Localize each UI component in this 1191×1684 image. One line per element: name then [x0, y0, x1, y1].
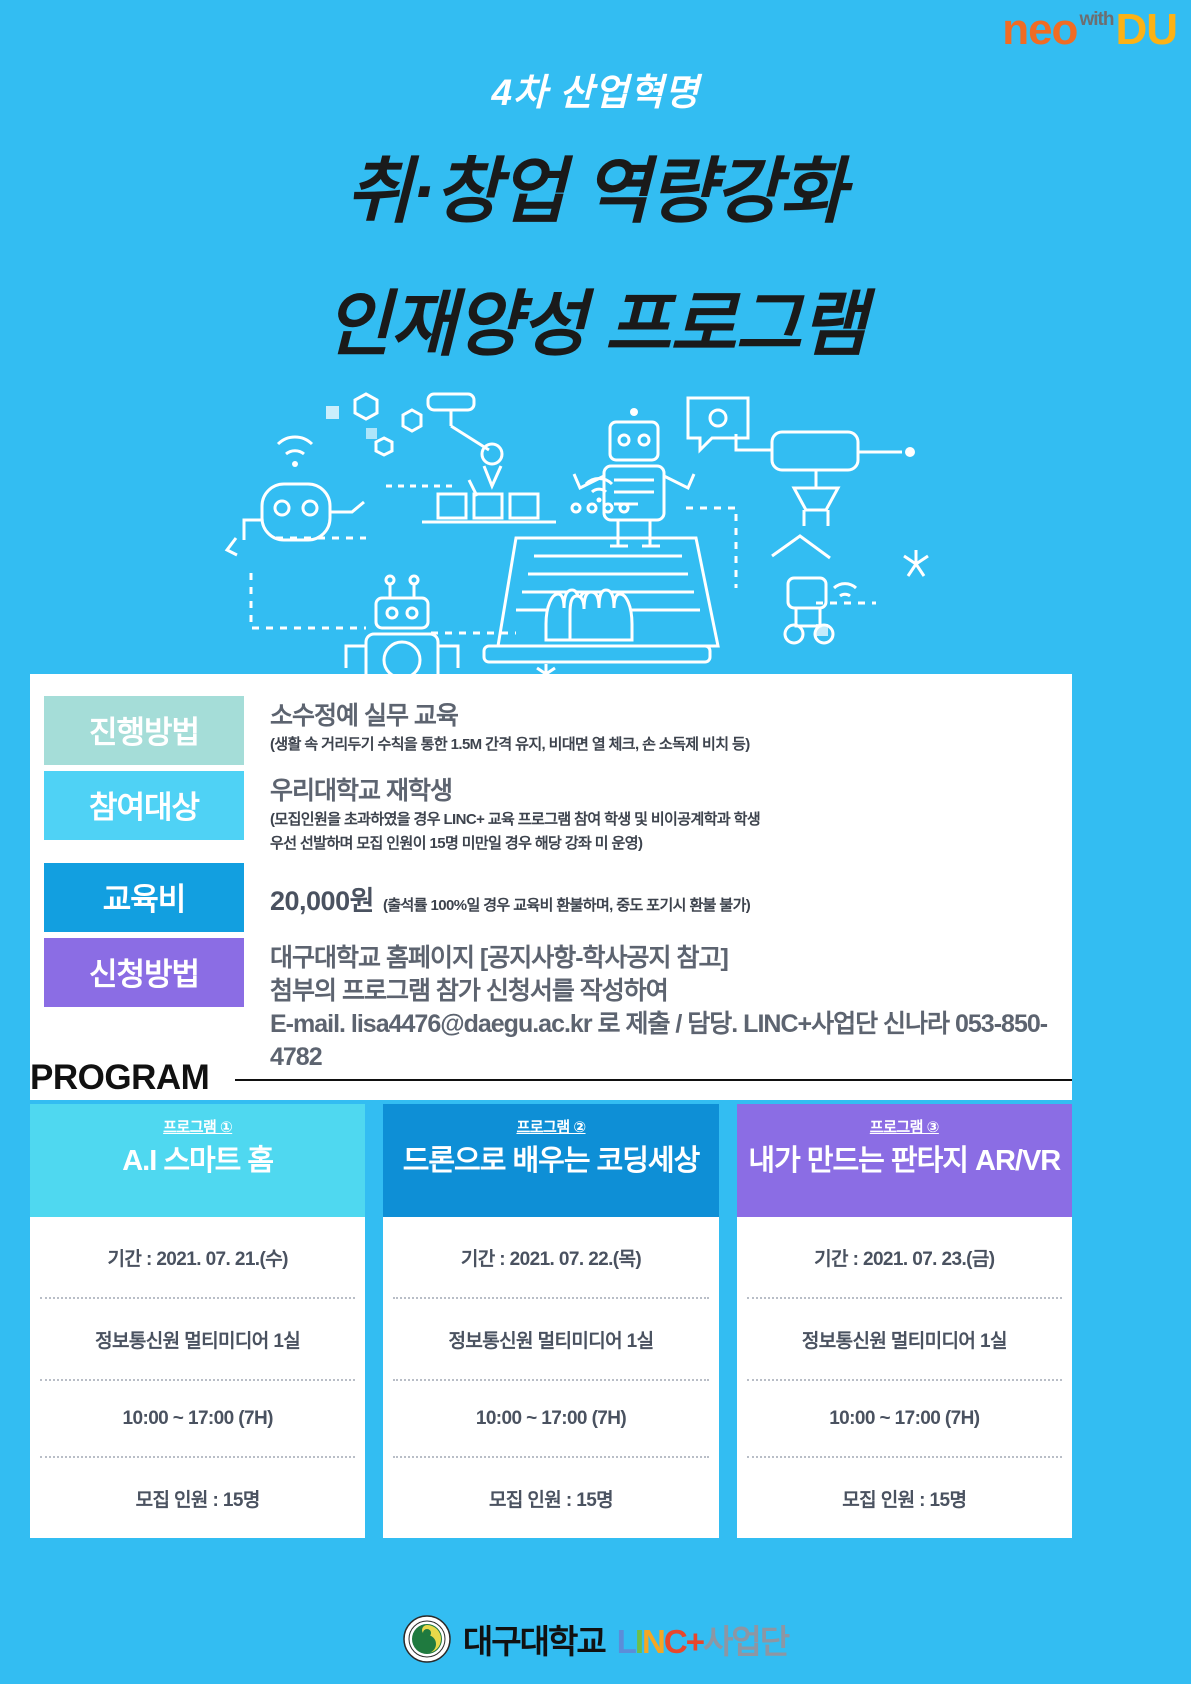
info-head-target: 우리대학교 재학생 — [270, 775, 1072, 808]
info-body-fee: 20,000원 (출석률 100%일 경우 교육비 환불하며, 중도 포기시 환… — [244, 863, 1072, 918]
info-label-method: 진행방법 — [44, 696, 244, 765]
linc-letter-l: L — [617, 1623, 635, 1661]
program-card-1-body: 기간 : 2021. 07. 21.(수) 정보통신원 멀티미디어 1실 10:… — [30, 1217, 365, 1538]
program-card-2[interactable]: 프로그램 ② 드론으로 배우는 코딩세상 기간 : 2021. 07. 22.(… — [383, 1104, 718, 1538]
program-card-3[interactable]: 프로그램 ③ 내가 만드는 판타지 AR/VR 기간 : 2021. 07. 2… — [737, 1104, 1072, 1538]
info-label-apply: 신청방법 — [44, 938, 244, 1007]
brand-du-text: DU — [1115, 8, 1177, 52]
program-card-3-kicker: 프로그램 ③ — [745, 1116, 1064, 1137]
linc-suffix-text: 사업단 — [703, 1615, 788, 1663]
program-card-3-period: 기간 : 2021. 07. 23.(금) — [747, 1217, 1062, 1299]
info-row-target: 참여대상 우리대학교 재학생 (모집인원을 초과하였을 경우 LINC+ 교육 … — [30, 771, 1072, 857]
daegu-university-emblem-icon — [403, 1615, 451, 1663]
info-sub-target-2: 우선 선발하며 모집 인원이 15명 미만일 경우 해당 강좌 미 운영) — [270, 832, 1072, 857]
program-card-1-kicker: 프로그램 ① — [38, 1116, 357, 1137]
poster-footer: 대구대학교 L I N C + 사업단 — [0, 1594, 1191, 1684]
brand-with-text: with — [1079, 10, 1113, 29]
program-heading-rule — [235, 1079, 1072, 1081]
program-card-2-capacity: 모집 인원 : 15명 — [393, 1458, 708, 1538]
program-card-2-title: 드론으로 배우는 코딩세상 — [391, 1144, 710, 1179]
footer-linc-logo: L I N C + 사업단 — [617, 1615, 788, 1663]
info-row-fee: 교육비 20,000원 (출석률 100%일 경우 교육비 환불하며, 중도 포… — [30, 863, 1072, 932]
program-card-2-header: 프로그램 ② 드론으로 배우는 코딩세상 — [383, 1104, 718, 1217]
program-card-3-title: 내가 만드는 판타지 AR/VR — [745, 1144, 1064, 1179]
robotics-illustration — [0, 388, 1191, 698]
program-card-list: 프로그램 ① A.I 스마트 홈 기간 : 2021. 07. 21.(수) 정… — [30, 1104, 1072, 1538]
program-card-1-header: 프로그램 ① A.I 스마트 홈 — [30, 1104, 365, 1217]
apply-line-1: 대구대학교 홈페이지 [공지사항-학사공지 참고] — [270, 942, 1072, 975]
program-card-1-title: A.I 스마트 홈 — [38, 1144, 357, 1179]
info-body-method: 소수정예 실무 교육 (생활 속 거리두기 수칙을 통한 1.5M 간격 유지,… — [244, 696, 1072, 757]
info-body-target: 우리대학교 재학생 (모집인원을 초과하였을 경우 LINC+ 교육 프로그램 … — [244, 771, 1072, 857]
fee-note: (출석률 100%일 경우 교육비 환불하며, 중도 포기시 환불 불가) — [383, 894, 750, 915]
program-heading-label: PROGRAM — [30, 1058, 209, 1098]
info-head-method: 소수정예 실무 교육 — [270, 700, 1072, 733]
program-card-3-time: 10:00 ~ 17:00 (7H) — [747, 1381, 1062, 1458]
poster-title-block: 4차 산업혁명 취·창업 역량강화 인재양성 프로그램 — [0, 0, 1191, 370]
info-panel: 진행방법 소수정예 실무 교육 (생활 속 거리두기 수칙을 통한 1.5M 간… — [30, 674, 1072, 1100]
program-card-1-time: 10:00 ~ 17:00 (7H) — [40, 1381, 355, 1458]
title-eyebrow: 4차 산업혁명 — [0, 62, 1191, 116]
program-card-2-place: 정보통신원 멀티미디어 1실 — [393, 1299, 708, 1381]
program-card-3-place: 정보통신원 멀티미디어 1실 — [747, 1299, 1062, 1381]
linc-plus-sign: + — [686, 1623, 703, 1661]
program-card-3-header: 프로그램 ③ 내가 만드는 판타지 AR/VR — [737, 1104, 1072, 1217]
brand-logo: neo with DU — [1002, 8, 1177, 52]
program-card-2-body: 기간 : 2021. 07. 22.(목) 정보통신원 멀티미디어 1실 10:… — [383, 1217, 718, 1538]
fee-amount: 20,000원 — [270, 879, 374, 918]
info-label-target: 참여대상 — [44, 771, 244, 840]
program-card-2-time: 10:00 ~ 17:00 (7H) — [393, 1381, 708, 1458]
program-card-2-kicker: 프로그램 ② — [391, 1116, 710, 1137]
info-row-apply: 신청방법 대구대학교 홈페이지 [공지사항-학사공지 참고] 첨부의 프로그램 … — [30, 938, 1072, 1074]
program-card-1-period: 기간 : 2021. 07. 21.(수) — [40, 1217, 355, 1299]
info-sub-target-1: (모집인원을 초과하였을 경우 LINC+ 교육 프로그램 참여 학생 및 비이… — [270, 808, 1072, 833]
apply-line-2: 첨부의 프로그램 참가 신청서를 작성하여 — [270, 975, 1072, 1008]
info-row-method: 진행방법 소수정예 실무 교육 (생활 속 거리두기 수칙을 통한 1.5M 간… — [30, 696, 1072, 765]
info-label-fee: 교육비 — [44, 863, 244, 932]
program-card-3-capacity: 모집 인원 : 15명 — [747, 1458, 1062, 1538]
footer-university-name: 대구대학교 — [463, 1615, 605, 1663]
title-line-1: 취·창업 역량강화 — [0, 132, 1191, 237]
program-card-2-period: 기간 : 2021. 07. 22.(목) — [393, 1217, 708, 1299]
linc-letter-i: I — [635, 1623, 642, 1661]
linc-letter-n: N — [642, 1623, 664, 1661]
linc-letter-c: C — [664, 1623, 686, 1661]
info-sub-method: (생활 속 거리두기 수칙을 통한 1.5M 간격 유지, 비대면 열 체크, … — [270, 733, 1072, 758]
program-card-3-body: 기간 : 2021. 07. 23.(금) 정보통신원 멀티미디어 1실 10:… — [737, 1217, 1072, 1538]
info-body-apply: 대구대학교 홈페이지 [공지사항-학사공지 참고] 첨부의 프로그램 참가 신청… — [244, 938, 1072, 1074]
program-heading: PROGRAM — [30, 1058, 1072, 1098]
program-card-1[interactable]: 프로그램 ① A.I 스마트 홈 기간 : 2021. 07. 21.(수) 정… — [30, 1104, 365, 1538]
program-card-1-place: 정보통신원 멀티미디어 1실 — [40, 1299, 355, 1381]
program-card-1-capacity: 모집 인원 : 15명 — [40, 1458, 355, 1538]
brand-neo-text: neo — [1002, 8, 1077, 52]
title-line-2: 인재양성 프로그램 — [0, 265, 1191, 370]
